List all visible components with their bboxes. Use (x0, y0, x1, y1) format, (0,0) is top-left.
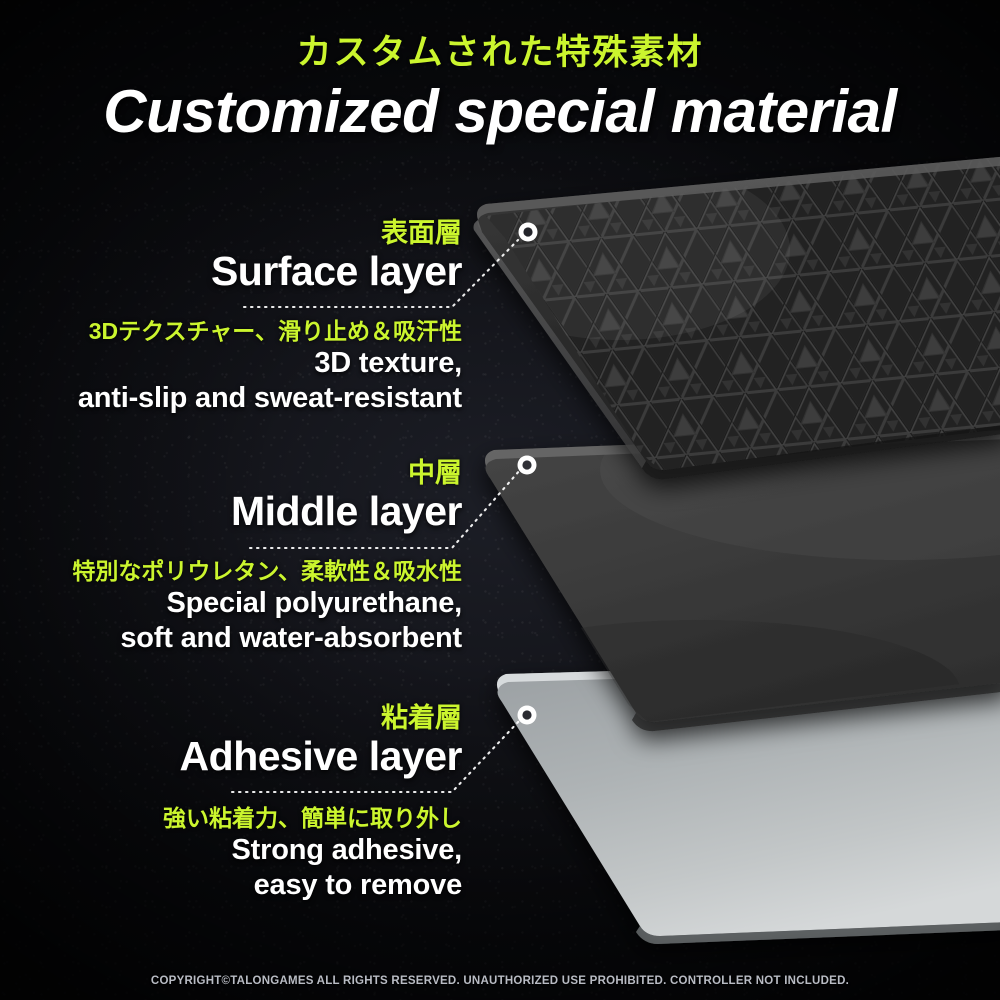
middle-en-desc-line-1: Special polyurethane, (0, 586, 462, 621)
layer-desc-middle: 特別なポリウレタン、柔軟性＆吸水性 Special polyurethane, … (0, 558, 462, 656)
adhesive-jp-label: 粘着層 (0, 703, 462, 734)
middle-jp-label: 中層 (0, 458, 462, 489)
adhesive-en-desc-line-2: easy to remove (0, 868, 462, 903)
copyright-footer: COPYRIGHT©TALONGAMES ALL RIGHTS RESERVED… (0, 975, 1000, 987)
layer-desc-surface: 3Dテクスチャー、滑り止め＆吸汗性 3D texture, anti-slip … (0, 318, 462, 416)
surface-en-desc: 3D texture, anti-slip and sweat-resistan… (0, 346, 462, 417)
layer-desc-adhesive: 強い粘着力、簡単に取り外し Strong adhesive, easy to r… (0, 805, 462, 903)
surface-jp-desc: 3Dテクスチャー、滑り止め＆吸汗性 (0, 318, 462, 346)
surface-en-desc-line-2: anti-slip and sweat-resistant (0, 381, 462, 416)
middle-en-desc-line-2: soft and water-absorbent (0, 621, 462, 656)
layer-label-adhesive: 粘着層 Adhesive layer (0, 703, 462, 779)
surface-en-label: Surface layer (0, 249, 462, 294)
middle-jp-desc: 特別なポリウレタン、柔軟性＆吸水性 (0, 558, 462, 586)
adhesive-en-desc-line-1: Strong adhesive, (0, 833, 462, 868)
layer-label-middle: 中層 Middle layer (0, 458, 462, 534)
surface-jp-label: 表面層 (0, 218, 462, 249)
middle-en-label: Middle layer (0, 489, 462, 534)
infographic-canvas: カスタムされた特殊素材 Customized special material (0, 0, 1000, 1000)
surface-en-desc-line-1: 3D texture, (0, 346, 462, 381)
adhesive-jp-desc: 強い粘着力、簡単に取り外し (0, 805, 462, 833)
adhesive-en-desc: Strong adhesive, easy to remove (0, 833, 462, 904)
layer-label-surface: 表面層 Surface layer (0, 218, 462, 294)
adhesive-en-label: Adhesive layer (0, 734, 462, 779)
middle-en-desc: Special polyurethane, soft and water-abs… (0, 586, 462, 657)
